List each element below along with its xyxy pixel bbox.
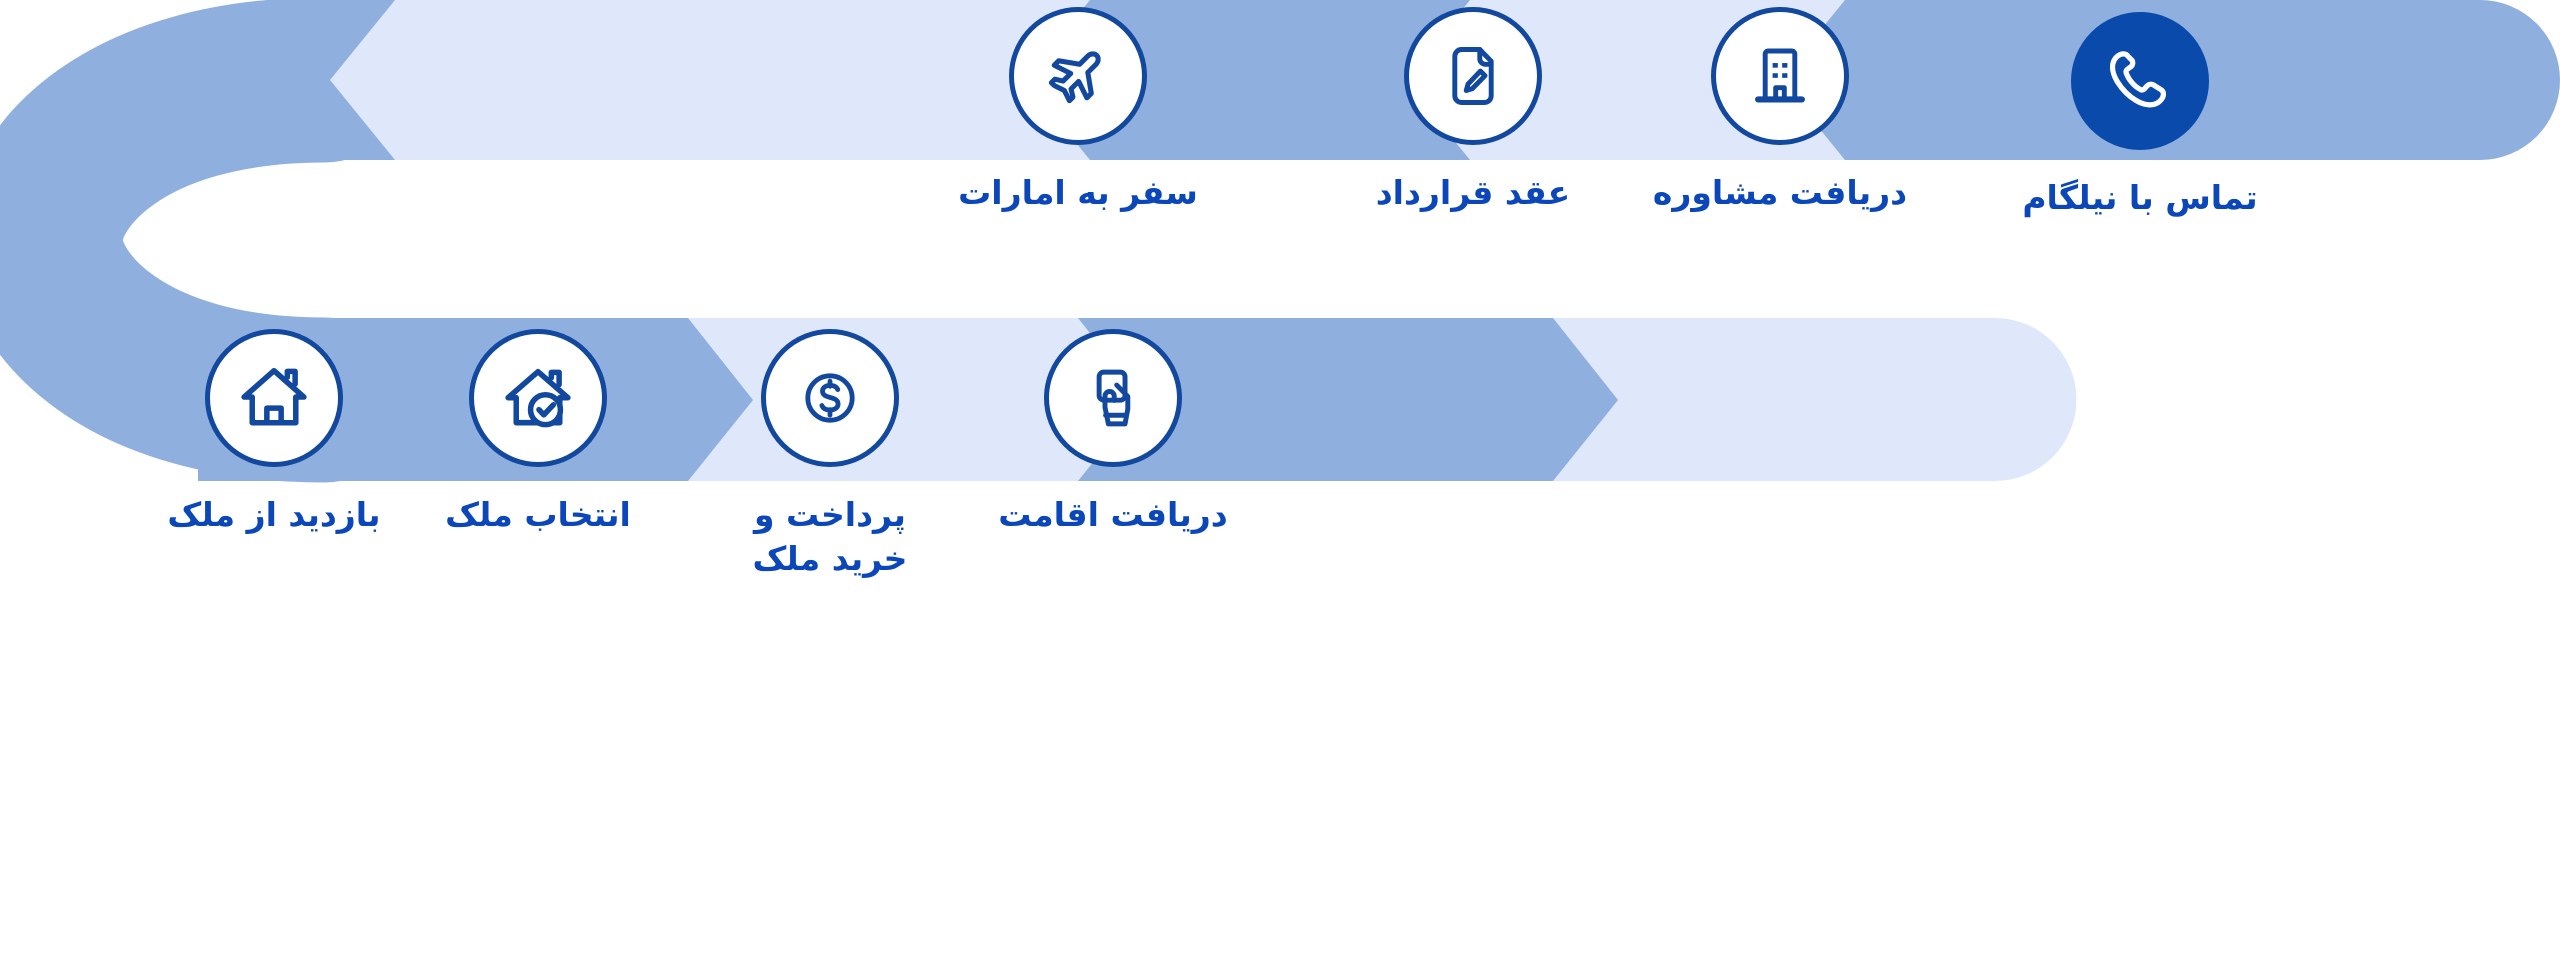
step-2-receive-consultation[interactable]: دریافت مشاوره: [1630, 7, 1930, 216]
step-8-label: دریافت اقامت: [963, 493, 1263, 538]
process-flow-infographic: تماس با نیلگام دریافت مشاوره عقد ق: [0, 0, 2560, 970]
step-3-sign-contract[interactable]: عقد قرارداد: [1323, 7, 1623, 216]
step-6-badge[interactable]: [469, 329, 607, 467]
step-7-label: پرداخت و خرید ملک: [680, 493, 980, 580]
step-5-badge[interactable]: [205, 329, 343, 467]
step-2-label: دریافت مشاوره: [1630, 171, 1930, 216]
step-2-badge[interactable]: [1711, 7, 1849, 145]
step-5-visit-property[interactable]: بازدید از ملک: [124, 329, 424, 538]
house-icon: [235, 359, 313, 437]
step-3-badge[interactable]: [1404, 7, 1542, 145]
step-5-label: بازدید از ملک: [124, 493, 424, 538]
step-8-badge[interactable]: [1044, 329, 1182, 467]
step-6-label: انتخاب ملک: [388, 493, 688, 538]
step-3-label: عقد قرارداد: [1323, 171, 1623, 216]
step-1-contact-nilgam[interactable]: تماس با نیلگام: [1990, 12, 2290, 221]
step-4-label: سفر به امارات: [928, 171, 1228, 216]
airplane-icon: [1040, 38, 1116, 114]
step-4-badge[interactable]: [1009, 7, 1147, 145]
step-1-label: تماس با نیلگام: [1990, 176, 2290, 221]
dollar-coin-icon: [794, 362, 866, 434]
phone-icon: [2103, 44, 2177, 118]
step-7-payment-and-purchase[interactable]: پرداخت و خرید ملک: [680, 329, 980, 580]
document-edit-icon: [1436, 39, 1510, 113]
step-6-select-property[interactable]: انتخاب ملک: [388, 329, 688, 538]
hand-card-icon: [1076, 361, 1150, 435]
house-check-icon: [499, 359, 577, 437]
step-4-travel-to-uae[interactable]: سفر به امارات: [928, 7, 1228, 216]
band-segment-9: [1553, 318, 2076, 481]
step-8-receive-residency[interactable]: دریافت اقامت: [963, 329, 1263, 538]
step-1-badge[interactable]: [2071, 12, 2209, 150]
step-7-badge[interactable]: [761, 329, 899, 467]
building-icon: [1743, 39, 1817, 113]
